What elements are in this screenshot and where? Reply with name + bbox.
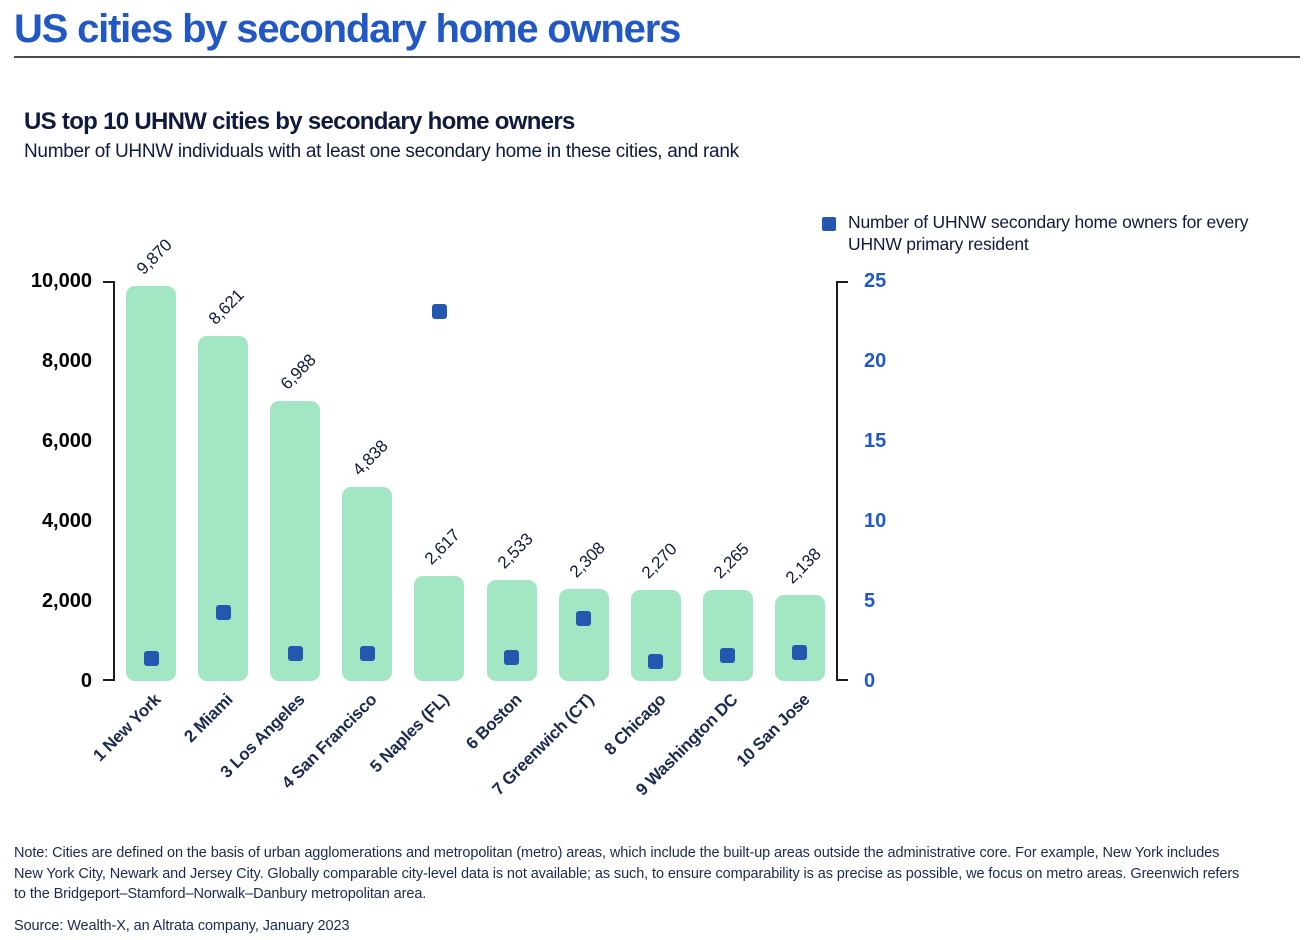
right-axis-line (836, 281, 848, 681)
ratio-marker[interactable] (648, 654, 663, 669)
right-axis-tick: 10 (864, 511, 886, 531)
ratio-marker[interactable] (432, 304, 447, 319)
blue-square-marker-icon (822, 217, 836, 231)
right-axis-tick: 15 (864, 431, 886, 451)
left-axis-tick: 10,000 (31, 271, 92, 291)
ratio-marker[interactable] (792, 645, 807, 660)
bar-column[interactable]: 4,838 (342, 281, 392, 681)
bar-column[interactable]: 6,988 (270, 281, 320, 681)
right-axis-tick: 0 (864, 671, 875, 691)
legend: Number of UHNW secondary home owners for… (822, 212, 1292, 256)
ratio-marker[interactable] (360, 646, 375, 661)
bar[interactable] (559, 589, 609, 681)
left-axis-tick: 6,000 (42, 431, 92, 451)
bar-value-label: 2,617 (421, 526, 465, 570)
bar-column[interactable]: 2,265 (703, 281, 753, 681)
right-axis-ticks: 0510152025 (864, 281, 954, 681)
ratio-marker[interactable] (144, 651, 159, 666)
ratio-marker[interactable] (504, 650, 519, 665)
bar-value-label: 2,308 (565, 538, 609, 582)
ratio-marker[interactable] (576, 611, 591, 626)
left-axis-tick: 8,000 (42, 351, 92, 371)
page-title: US cities by secondary home owners (14, 8, 1300, 50)
bar-value-label: 6,988 (277, 351, 321, 395)
note-text: Note: Cities are defined on the basis of… (14, 843, 1244, 905)
legend-label: Number of UHNW secondary home owners for… (848, 212, 1292, 256)
bar-column[interactable]: 2,138 (775, 281, 825, 681)
bar-value-label: 2,265 (710, 540, 754, 584)
right-axis-tick: 5 (864, 591, 875, 611)
ratio-marker[interactable] (216, 605, 231, 620)
bar-value-label: 2,533 (493, 529, 537, 573)
chart-page: US cities by secondary home owners US to… (0, 0, 1314, 940)
bar-column[interactable]: 9,870 (126, 281, 176, 681)
bar-value-label: 9,870 (133, 236, 177, 280)
ratio-marker[interactable] (288, 646, 303, 661)
left-axis-ticks: 02,0004,0006,0008,00010,000 (0, 281, 92, 681)
chart-title: US top 10 UHNW cities by secondary home … (24, 108, 575, 136)
bar-column[interactable]: 2,533 (487, 281, 537, 681)
bar-value-label: 2,138 (782, 545, 826, 589)
footnotes: Note: Cities are defined on the basis of… (14, 843, 1244, 934)
bar[interactable] (703, 590, 753, 681)
bar[interactable] (775, 595, 825, 681)
bar[interactable] (126, 286, 176, 681)
chart-subtitle: Number of UHNW individuals with at least… (24, 140, 824, 164)
bar-value-label: 2,270 (638, 540, 682, 584)
bar-column[interactable]: 2,270 (631, 281, 681, 681)
left-axis-line (103, 281, 115, 681)
left-axis-tick: 0 (81, 671, 92, 691)
bar[interactable] (270, 401, 320, 681)
bar-value-label: 8,621 (205, 286, 249, 330)
ratio-marker[interactable] (720, 648, 735, 663)
header-divider (14, 56, 1300, 58)
bar-column[interactable]: 2,617 (414, 281, 464, 681)
left-axis-tick: 2,000 (42, 591, 92, 611)
bar-column[interactable]: 8,621 (198, 281, 248, 681)
bar[interactable] (198, 336, 248, 681)
plot-area: 9,8708,6216,9884,8382,6172,5332,3082,270… (115, 281, 836, 681)
bar-value-label: 4,838 (349, 437, 393, 481)
right-axis-tick: 20 (864, 351, 886, 371)
right-axis-tick: 25 (864, 271, 886, 291)
left-axis-tick: 4,000 (42, 511, 92, 531)
bar[interactable] (487, 580, 537, 681)
page-header: US cities by secondary home owners (14, 8, 1300, 58)
bar-column[interactable]: 2,308 (559, 281, 609, 681)
source-text: Source: Wealth-X, an Altrata company, Ja… (14, 918, 1244, 934)
bar[interactable] (414, 576, 464, 681)
